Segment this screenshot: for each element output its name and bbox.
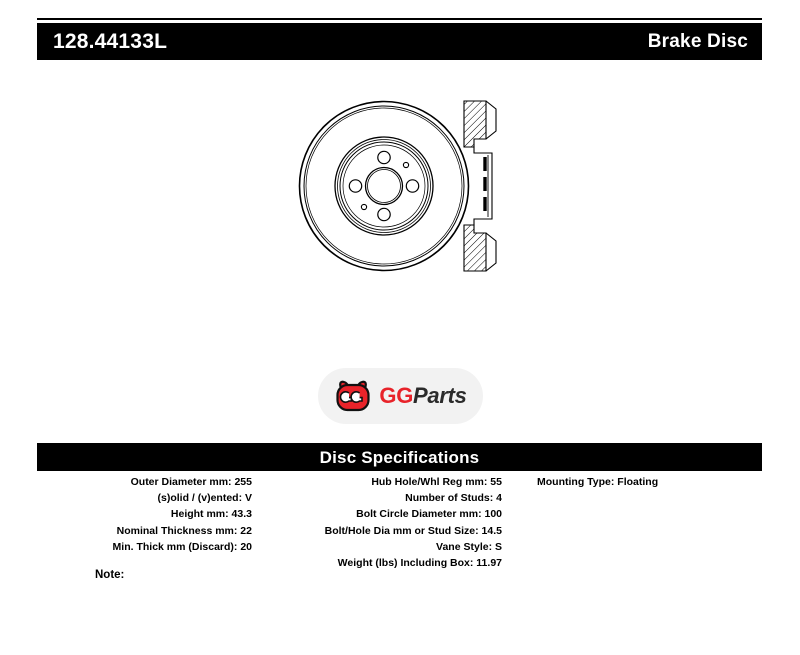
spec-row: (s)olid / (v)ented: V [37,490,252,506]
ggparts-mascot-icon [334,379,372,413]
spec-row: Bolt Circle Diameter mm: 100 [272,506,502,522]
document-title: Brake Disc [648,32,748,51]
spec-column-right: Mounting Type: Floating [537,474,762,490]
brake-rotor-face-view [298,100,470,272]
spec-row: Weight (lbs) Including Box: 11.97 [272,555,502,571]
pin-hole [361,204,366,209]
brand-parts: Parts [413,383,467,408]
brand-gg: GG [379,383,413,408]
stud-hole [378,151,390,163]
brake-rotor-cross-section-view [452,95,512,277]
ggparts-wordmark: GGParts [379,385,466,407]
note-label: Note: [95,569,124,581]
spec-row: Mounting Type: Floating [537,474,762,490]
spec-row: Hub Hole/Whl Reg mm: 55 [272,474,502,490]
stud-hole [406,180,418,192]
technical-drawing-area: GGParts [0,70,800,420]
spec-column-left: Outer Diameter mm: 255 (s)olid / (v)ente… [37,474,252,555]
part-number: 128.44133L [53,31,167,52]
spec-column-middle: Hub Hole/Whl Reg mm: 55 Number of Studs:… [272,474,502,571]
spec-row: Vane Style: S [272,539,502,555]
header-bar: 128.44133L Brake Disc [37,23,762,60]
spec-section-title: Disc Specifications [320,449,480,466]
spec-row: Nominal Thickness mm: 22 [37,523,252,539]
top-divider-rule [37,18,762,20]
spec-row: Bolt/Hole Dia mm or Stud Size: 14.5 [272,523,502,539]
ggparts-watermark: GGParts [318,368,483,424]
note-field: Note: [95,570,132,582]
spec-table: Outer Diameter mm: 255 (s)olid / (v)ente… [37,474,762,584]
spec-row: Height mm: 43.3 [37,506,252,522]
spec-row: Min. Thick mm (Discard): 20 [37,539,252,555]
spec-row: Outer Diameter mm: 255 [37,474,252,490]
spec-row: Number of Studs: 4 [272,490,502,506]
spec-section-header: Disc Specifications [37,443,762,471]
stud-hole [349,180,361,192]
stud-hole [378,208,390,220]
pin-hole [403,162,408,167]
